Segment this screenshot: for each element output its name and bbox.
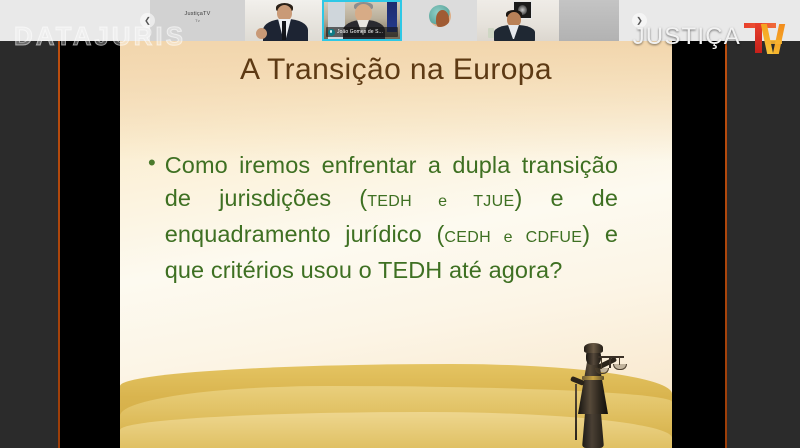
datajuris-watermark: DATAJURIS	[14, 21, 186, 52]
microphone-icon	[328, 29, 335, 36]
bullet-marker: •	[148, 149, 156, 177]
justica-logo-text: JUSTIÇA	[633, 23, 741, 51]
bullet-item: • Como iremos enfrentar a dupla transiçã…	[148, 149, 618, 287]
justica-tv-logo: JUSTIÇA	[633, 20, 794, 54]
left-letterbox	[60, 0, 120, 448]
slide-title: A Transição na Europa	[120, 53, 672, 87]
presentation-slide: A Transição na Europa • Como iremos enfr…	[120, 41, 672, 448]
screen-capture: A Transição na Europa • Como iremos enfr…	[0, 0, 800, 448]
bullet-text: Como iremos enfrentar a dupla transição …	[165, 149, 618, 287]
avatar	[429, 5, 451, 27]
participant-name: João Gomes de S...	[337, 29, 383, 35]
ta-mark-icon	[742, 20, 794, 54]
left-rail	[0, 0, 59, 448]
right-accent-line	[725, 0, 727, 448]
right-rail	[727, 0, 800, 448]
participant-name-badge: João Gomes de S...	[326, 27, 398, 37]
slide-body: • Como iremos enfrentar a dupla transiçã…	[148, 149, 618, 287]
participant-tile-speaker-2[interactable]	[477, 0, 559, 41]
lady-justice-statue-icon	[564, 328, 626, 448]
participant-tile-avatar[interactable]	[402, 0, 477, 41]
right-letterbox	[672, 0, 725, 448]
participant-tile-empty[interactable]	[559, 0, 619, 41]
participant-tile-active-speaker[interactable]: João Gomes de S...	[322, 0, 402, 41]
participant-tile-speaker-1[interactable]	[245, 0, 322, 41]
body-part-3: CEDH e CDFUE	[444, 229, 582, 246]
body-part-1: TEDH e TJUE	[367, 193, 514, 210]
